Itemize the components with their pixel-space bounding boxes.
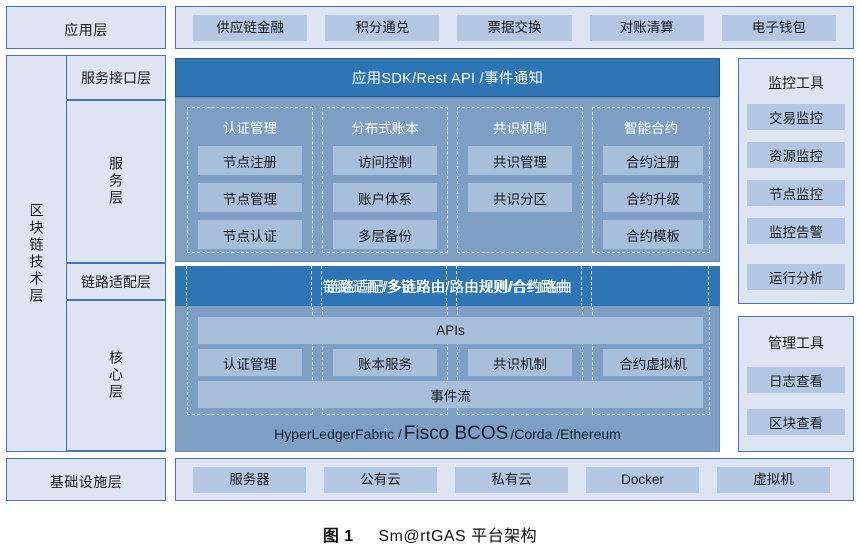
monitoring-item-operation-analysis[interactable]: 运行分析: [747, 264, 845, 290]
service-tile-access-control[interactable]: 访问控制: [333, 146, 437, 175]
infrastructure-layer-items: 服务器 公有云 私有云 Docker 虚拟机: [175, 458, 854, 501]
service-column-head-ledger: 分布式账本: [322, 117, 448, 137]
service-interface-bar: 应用SDK/Rest API /事件通知: [175, 58, 720, 97]
monitoring-item-resource[interactable]: 资源监控: [747, 142, 845, 168]
service-layer-panel: 认证管理 节点注册 节点管理 节点认证 分布式账本 访问控制 账户体系 多层备份…: [175, 97, 720, 262]
core-module-consensus-mechanism[interactable]: 共识机制: [468, 349, 572, 376]
figure-caption: 图 1 Sm@rtGAS 平台架构: [0, 522, 860, 546]
core-event-stream-bar: 事件流: [198, 381, 703, 408]
app-chip-supply-chain-finance[interactable]: 供应链金融: [193, 15, 307, 41]
app-chip-reconciliation-settlement[interactable]: 对账清算: [590, 15, 704, 41]
core-module-auth-manage[interactable]: 认证管理: [198, 349, 302, 376]
app-chip-points-exchange[interactable]: 积分通兑: [325, 15, 439, 41]
management-tools-panel: 管理工具 日志查看 区块查看: [738, 316, 854, 452]
monitoring-tools-title: 监控工具: [739, 73, 853, 93]
service-layer-label: 服务层: [66, 100, 166, 263]
service-tile-consensus-partition[interactable]: 共识分区: [468, 183, 572, 212]
service-column-head-smart-contract: 智能合约: [592, 117, 710, 137]
figure-title: Sm@rtGAS 平台架构: [378, 528, 537, 545]
service-tile-account-system[interactable]: 账户体系: [333, 183, 437, 212]
figure-number: 图 1: [323, 528, 354, 545]
service-tile-node-register[interactable]: 节点注册: [198, 146, 302, 175]
blockchain-tech-layer-box: 区块链技术层 服务接口层 服务层 链路适配层 核心层: [6, 55, 166, 452]
service-tile-consensus-manage[interactable]: 共识管理: [468, 146, 572, 175]
link-adaptation-bar-text: 链路适配/多链路由/路由规则/合约路由: [175, 266, 720, 306]
application-layer-label-box: 应用层: [6, 6, 166, 49]
service-tile-contract-upgrade[interactable]: 合约升级: [603, 183, 703, 212]
ledger-emphasis: Fisco BCOS: [402, 423, 511, 445]
figure-caption-gap: [359, 528, 374, 545]
link-adaptation-layer-label: 链路适配层: [66, 263, 166, 300]
infra-chip-public-cloud[interactable]: 公有云: [324, 467, 437, 493]
infrastructure-layer-label: 基础设施层: [7, 472, 165, 492]
app-chip-bill-exchange[interactable]: 票据交换: [457, 15, 571, 41]
infra-chip-virtual-machine[interactable]: 虚拟机: [717, 467, 830, 493]
application-layer-items: 供应链金融 积分通兑 票据交换 对账清算 电子钱包: [175, 6, 854, 49]
architecture-diagram: 应用层 供应链金融 积分通兑 票据交换 对账清算 电子钱包 区块链技术层 服务接…: [0, 0, 860, 554]
core-ledger-platforms: HyperLedgerFabric / Fisco BCOS /Corda /E…: [176, 417, 719, 451]
core-layer-label: 核心层: [66, 300, 166, 451]
monitoring-item-transaction[interactable]: 交易监控: [747, 104, 845, 130]
ledger-suffix: /Corda /Ethereum: [510, 426, 621, 442]
blockchain-tech-layer-label: 区块链技术层: [7, 56, 66, 451]
app-chip-e-wallet[interactable]: 电子钱包: [722, 15, 836, 41]
service-tile-multi-layer-backup[interactable]: 多层备份: [333, 220, 437, 249]
service-tile-contract-template[interactable]: 合约模板: [603, 220, 703, 249]
management-tools-title: 管理工具: [739, 333, 853, 353]
service-tile-contract-register[interactable]: 合约注册: [603, 146, 703, 175]
infra-chip-private-cloud[interactable]: 私有云: [455, 467, 568, 493]
service-column-head-consensus: 共识机制: [457, 117, 583, 137]
core-module-ledger-service[interactable]: 账本服务: [333, 349, 437, 376]
core-module-contract-vm[interactable]: 合约虚拟机: [603, 349, 703, 376]
service-column-head-auth: 认证管理: [187, 117, 313, 137]
management-item-log-view[interactable]: 日志查看: [747, 367, 845, 393]
service-interface-layer-label: 服务接口层: [66, 55, 166, 100]
infrastructure-layer-label-box: 基础设施层: [6, 458, 166, 501]
management-item-block-view[interactable]: 区块查看: [747, 409, 845, 435]
service-tile-node-auth[interactable]: 节点认证: [198, 220, 302, 249]
monitoring-item-node[interactable]: 节点监控: [747, 180, 845, 206]
application-layer-label: 应用层: [7, 20, 165, 40]
core-apis-bar: APIs: [198, 317, 703, 344]
monitoring-item-alarm[interactable]: 监控告警: [747, 218, 845, 244]
service-tile-node-manage[interactable]: 节点管理: [198, 183, 302, 212]
monitoring-tools-panel: 监控工具 交易监控 资源监控 节点监控 监控告警 运行分析: [738, 58, 854, 304]
infra-chip-server[interactable]: 服务器: [193, 467, 306, 493]
ledger-prefix: HyperLedgerFabric /: [274, 426, 402, 442]
infra-chip-docker[interactable]: Docker: [586, 467, 699, 493]
